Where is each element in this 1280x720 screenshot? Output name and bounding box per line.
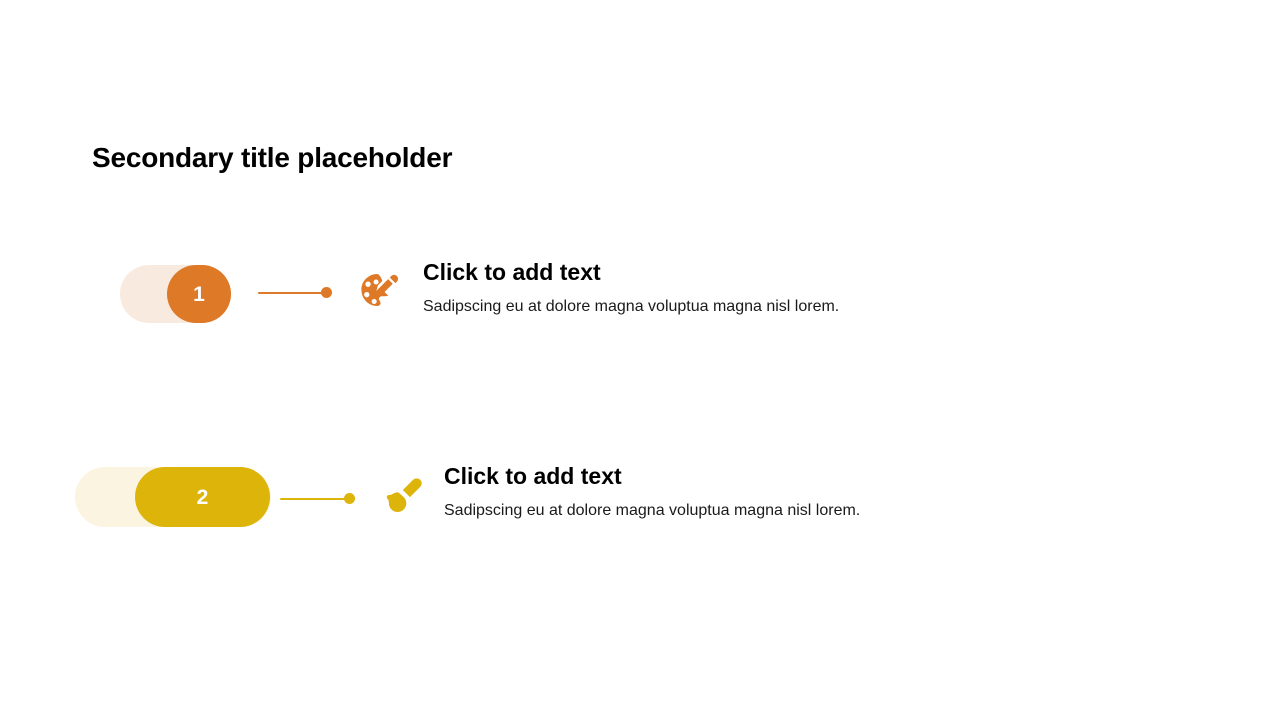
step-heading[interactable]: Click to add text (444, 455, 1084, 491)
connector-end-dot (344, 493, 355, 504)
page-title[interactable]: Secondary title placeholder (92, 142, 452, 174)
step-body-text[interactable]: Sadipscing eu at dolore magna voluptua m… (423, 296, 1063, 318)
badge-solid-pill: 1 (167, 265, 231, 323)
step-badge-2[interactable]: 2 (75, 467, 280, 539)
step-body-text[interactable]: Sadipscing eu at dolore magna voluptua m… (444, 500, 1084, 522)
step-text-block: Click to add text Sadipscing eu at dolor… (423, 253, 1063, 317)
slide-canvas: Secondary title placeholder 1 Click to a… (0, 0, 1280, 720)
step-row: 1 Click to add text Sadipscing eu at dol… (0, 253, 1280, 373)
badge-number-label: 1 (193, 284, 205, 305)
step-text-block: Click to add text Sadipscing eu at dolor… (444, 455, 1084, 521)
badge-solid-pill: 2 (135, 467, 270, 527)
step-connector (258, 287, 332, 299)
step-connector (280, 493, 355, 505)
step-row: 2 Click to add text Sadipscing eu at dol… (0, 455, 1280, 575)
step-heading[interactable]: Click to add text (423, 253, 1063, 287)
paintbrush-icon (381, 473, 427, 519)
badge-number-label: 2 (197, 487, 209, 508)
palette-brush-icon (357, 270, 403, 316)
step-badge-1[interactable]: 1 (120, 265, 240, 337)
connector-end-dot (321, 287, 332, 298)
